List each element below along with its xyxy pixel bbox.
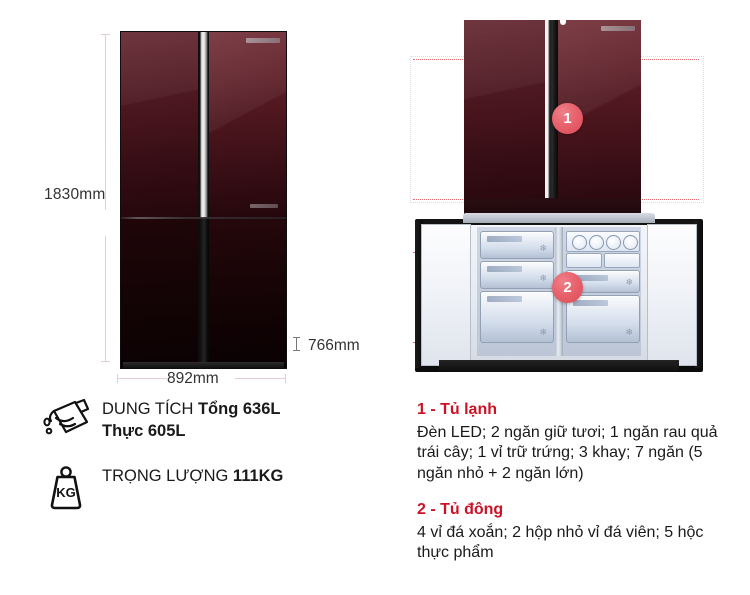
drawer-handle xyxy=(573,300,608,306)
callout-badge-2[interactable]: 2 xyxy=(552,272,583,303)
door-seam-divider xyxy=(121,217,286,219)
capacity-line-1: DUNG TÍCH Tổng 636L xyxy=(102,398,280,420)
cabinet-base xyxy=(439,360,679,372)
lower-doors-section xyxy=(121,218,286,368)
dimension-cap-bottom xyxy=(293,350,300,351)
snowflake-icon: ❄ xyxy=(539,243,547,254)
height-dimension-label: 1830mm xyxy=(44,186,106,204)
specifications-list: DUNG TÍCH Tổng 636L Thực 605L KG TRỌNG L… xyxy=(30,396,390,531)
freezer-section-heading: 2 - Tủ đông xyxy=(417,500,737,521)
drawer-handle xyxy=(487,266,522,272)
open-door-panel-left xyxy=(421,224,471,366)
door-bottom-left xyxy=(121,218,198,368)
spec-row-weight: KG TRỌNG LƯỢNG 111KG xyxy=(30,463,390,511)
drawer-handle xyxy=(487,296,522,302)
brand-logo-icon xyxy=(246,38,280,43)
product-spec-sheet: 1830mm 892mm 766mm xyxy=(0,0,750,595)
ice-cube-box xyxy=(566,253,602,268)
callout-badge-1[interactable]: 1 xyxy=(552,103,583,134)
capacity-label: DUNG TÍCH xyxy=(102,400,198,418)
dimension-cap-top xyxy=(293,337,300,338)
ice-twist-tray xyxy=(566,231,640,252)
open-refrigerator-image: ❄ ❄ ❄ xyxy=(405,0,750,400)
capacity-text: DUNG TÍCH Tổng 636L Thực 605L xyxy=(102,396,280,443)
door-top-right xyxy=(209,32,286,218)
freezer-drawer: ❄ xyxy=(480,291,554,343)
weight-value: 111KG xyxy=(233,467,283,485)
dimension-cap-left xyxy=(117,374,118,383)
weight-line-1: TRỌNG LƯỢNG 111KG xyxy=(102,465,283,487)
brand-logo-secondary-icon xyxy=(250,204,278,208)
capacity-line-2: Thực 605L xyxy=(102,420,280,442)
freezer-section-body: 4 vỉ đá xoắn; 2 hộp nhỏ vỉ đá viên; 5 hộ… xyxy=(417,523,737,564)
interior-diagram-panel: ❄ ❄ ❄ xyxy=(405,0,750,400)
freezer-drawer: ❄ xyxy=(566,295,640,343)
weight-text: TRỌNG LƯỢNG 111KG xyxy=(102,463,283,487)
closed-refrigerator-image xyxy=(121,32,286,368)
capacity-usable-value: Thực 605L xyxy=(102,422,185,440)
feature-descriptions: 1 - Tủ lạnh Đèn LED; 2 ngăn giữ tươi; 1 … xyxy=(417,400,737,564)
depth-dimension-line xyxy=(296,337,297,351)
snowflake-icon: ❄ xyxy=(539,327,547,338)
door-top-left xyxy=(121,32,198,218)
dimension-diagram-panel: 1830mm 892mm 766mm xyxy=(0,0,400,400)
open-door-top-left xyxy=(464,20,545,220)
freezer-drawer: ❄ xyxy=(480,231,554,259)
depth-dimension-label: 766mm xyxy=(308,337,360,355)
weight-label: TRỌNG LƯỢNG xyxy=(102,467,233,485)
dimension-cap-bottom xyxy=(101,361,110,362)
center-pillar-top xyxy=(198,32,209,218)
upper-doors-section xyxy=(121,32,286,218)
weight-icon-label: KG xyxy=(56,485,76,500)
measuring-jug-icon xyxy=(30,396,102,442)
width-dimension-label: 892mm xyxy=(167,370,219,388)
fridge-section-heading: 1 - Tủ lạnh xyxy=(417,400,737,421)
door-bottom-right xyxy=(209,218,286,368)
drawer-handle xyxy=(487,236,522,242)
snowflake-icon: ❄ xyxy=(625,327,633,338)
brand-logo-icon xyxy=(601,26,635,31)
snowflake-icon: ❄ xyxy=(539,273,547,284)
snowflake-icon: ❄ xyxy=(625,277,633,288)
cabinet-top-lip xyxy=(463,213,655,223)
capacity-total-value: Tổng 636L xyxy=(198,400,281,418)
dimension-cap-top xyxy=(101,34,110,35)
dimension-cap-right xyxy=(285,374,286,383)
base-plinth xyxy=(123,362,284,368)
spec-row-capacity: DUNG TÍCH Tổng 636L Thực 605L xyxy=(30,396,390,443)
freezer-drawer: ❄ xyxy=(480,261,554,289)
fridge-section-body: Đèn LED; 2 ngăn giữ tươi; 1 ngăn rau quả… xyxy=(417,423,737,484)
dimension-label-gap xyxy=(101,210,111,236)
ice-cube-box xyxy=(604,253,640,268)
center-pillar-bottom xyxy=(198,218,209,368)
weight-kg-icon: KG xyxy=(30,463,102,511)
open-door-panel-right xyxy=(647,224,697,366)
